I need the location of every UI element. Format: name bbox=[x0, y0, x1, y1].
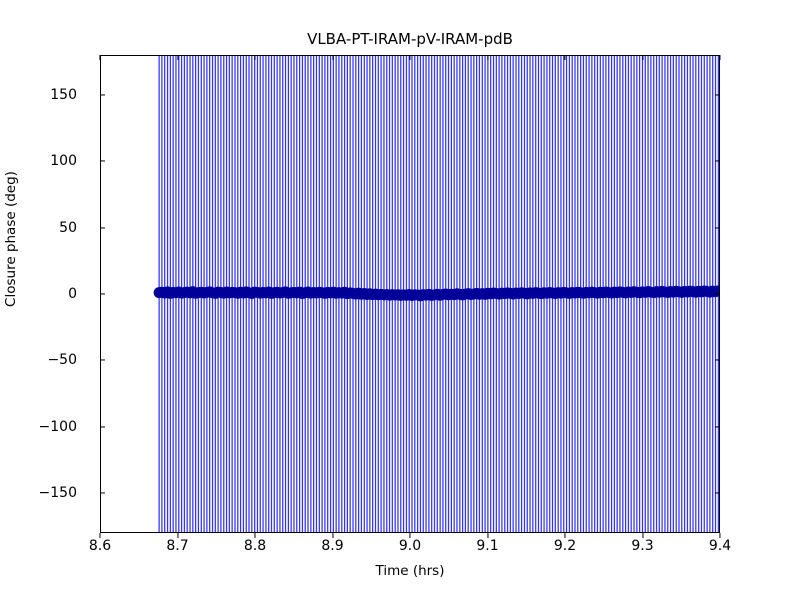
y-tick-mark bbox=[715, 360, 720, 361]
y-tick-mark bbox=[100, 426, 105, 427]
plot-area bbox=[100, 55, 720, 533]
x-tick-label: 8.7 bbox=[138, 538, 218, 554]
x-tick-label: 9.2 bbox=[525, 538, 605, 554]
x-tick-label: 9.4 bbox=[680, 538, 760, 554]
y-tick-label: −50 bbox=[0, 352, 77, 368]
x-tick-mark bbox=[564, 55, 565, 60]
x-tick-mark bbox=[177, 55, 178, 60]
y-tick-label: −150 bbox=[0, 485, 77, 501]
x-tick-mark bbox=[409, 533, 410, 538]
x-tick-label: 9.3 bbox=[603, 538, 683, 554]
y-tick-mark bbox=[100, 227, 105, 228]
x-tick-mark bbox=[332, 533, 333, 538]
figure-canvas: VLBA-PT-IRAM-pV-IRAM-pdB Closure phase (… bbox=[0, 0, 800, 600]
y-tick-label: −100 bbox=[0, 419, 77, 435]
scatter-series bbox=[101, 56, 720, 533]
y-tick-mark bbox=[715, 227, 720, 228]
x-tick-label: 9.1 bbox=[448, 538, 528, 554]
y-tick-mark bbox=[715, 161, 720, 162]
x-tick-mark bbox=[564, 533, 565, 538]
x-tick-mark bbox=[642, 533, 643, 538]
x-tick-label: 8.8 bbox=[215, 538, 295, 554]
x-tick-mark bbox=[642, 55, 643, 60]
page-title: VLBA-PT-IRAM-pV-IRAM-pdB bbox=[100, 30, 720, 48]
x-tick-label: 9.0 bbox=[370, 538, 450, 554]
y-tick-mark bbox=[100, 94, 105, 95]
y-tick-label: 100 bbox=[0, 153, 77, 169]
y-tick-mark bbox=[715, 493, 720, 494]
y-tick-mark bbox=[715, 94, 720, 95]
y-tick-mark bbox=[100, 161, 105, 162]
data-layer bbox=[101, 56, 719, 532]
y-tick-mark bbox=[100, 493, 105, 494]
y-axis-label: Closure phase (deg) bbox=[0, 0, 24, 478]
x-tick-mark bbox=[719, 55, 720, 60]
x-tick-mark bbox=[332, 55, 333, 60]
x-tick-mark bbox=[487, 533, 488, 538]
x-tick-mark bbox=[487, 55, 488, 60]
y-tick-mark bbox=[100, 293, 105, 294]
y-tick-mark bbox=[715, 426, 720, 427]
y-tick-mark bbox=[100, 360, 105, 361]
x-tick-mark bbox=[177, 533, 178, 538]
x-axis-label: Time (hrs) bbox=[100, 563, 720, 579]
x-tick-mark bbox=[719, 533, 720, 538]
x-tick-mark bbox=[254, 533, 255, 538]
x-tick-mark bbox=[99, 55, 100, 60]
y-tick-mark bbox=[715, 293, 720, 294]
x-tick-mark bbox=[99, 533, 100, 538]
x-tick-mark bbox=[409, 55, 410, 60]
x-tick-mark bbox=[254, 55, 255, 60]
y-tick-label: 50 bbox=[0, 220, 77, 236]
x-tick-label: 8.9 bbox=[293, 538, 373, 554]
y-tick-label: 150 bbox=[0, 87, 77, 103]
x-tick-label: 8.6 bbox=[60, 538, 140, 554]
y-tick-label: 0 bbox=[0, 286, 77, 302]
